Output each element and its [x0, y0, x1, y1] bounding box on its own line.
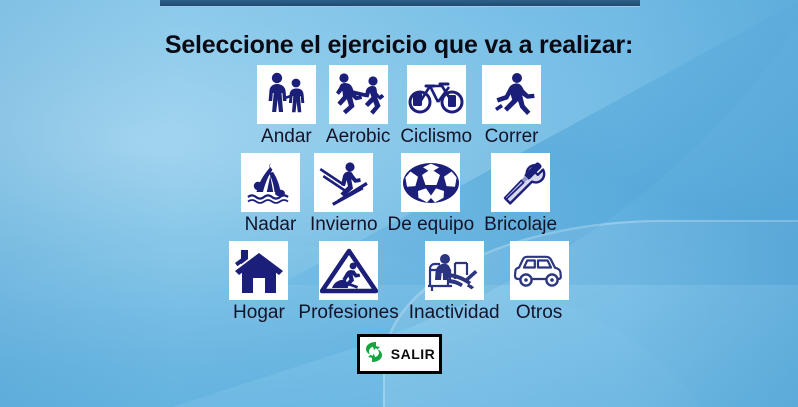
page-title: Seleccione el ejercicio que va a realiza… [165, 31, 633, 60]
exercise-label: Bricolaje [484, 213, 557, 236]
exercise-label: Hogar [233, 301, 285, 324]
exercise-label: Andar [261, 125, 312, 148]
roadwork-sign-icon[interactable] [319, 241, 378, 300]
exercise-item-aerobic[interactable]: Aerobic [326, 65, 390, 148]
exercise-label: Invierno [310, 213, 378, 236]
exercise-item-profesiones[interactable]: Profesiones [298, 241, 398, 324]
walking-pair-icon[interactable] [257, 65, 316, 124]
dancing-pair-icon[interactable] [329, 65, 388, 124]
window-titlebar-strip [160, 0, 640, 7]
exercise-row-3: Hogar Profesiones [229, 241, 568, 324]
exercise-label: Correr [485, 125, 539, 148]
running-person-icon[interactable] [482, 65, 541, 124]
person-on-sofa-icon[interactable] [425, 241, 484, 300]
exercise-item-bricolaje[interactable]: Bricolaje [484, 153, 557, 236]
exercise-label: Ciclismo [400, 125, 472, 148]
diver-swimming-icon[interactable] [241, 153, 300, 212]
exercise-item-ciclismo[interactable]: Ciclismo [400, 65, 472, 148]
exercise-item-nadar[interactable]: Nadar [241, 153, 300, 236]
exercise-item-hogar[interactable]: Hogar [229, 241, 288, 324]
screwdriver-wrench-icon[interactable] [491, 153, 550, 212]
exercise-item-inactividad[interactable]: Inactividad [409, 241, 500, 324]
exercise-label: Otros [516, 301, 562, 324]
exercise-label: Inactividad [409, 301, 500, 324]
house-icon[interactable] [229, 241, 288, 300]
car-icon[interactable] [510, 241, 569, 300]
exercise-label: De equipo [388, 213, 475, 236]
green-return-arrow-icon [363, 340, 385, 369]
exercise-label: Aerobic [326, 125, 390, 148]
bicycle-icon[interactable] [407, 65, 466, 124]
exit-button[interactable]: SALIR [357, 334, 442, 374]
exercise-label: Nadar [245, 213, 297, 236]
exercise-grid: Andar Aerobic [229, 65, 568, 324]
exercise-item-invierno[interactable]: Invierno [310, 153, 378, 236]
exit-button-label: SALIR [391, 346, 436, 362]
exercise-selection-screen: Seleccione el ejercicio que va a realiza… [0, 0, 798, 407]
exercise-label: Profesiones [298, 301, 398, 324]
skier-icon[interactable] [314, 153, 373, 212]
exercise-item-otros[interactable]: Otros [510, 241, 569, 324]
exercise-item-de-equipo[interactable]: De equipo [388, 153, 475, 236]
soccer-ball-icon[interactable] [401, 153, 460, 212]
exit-button-container: SALIR [357, 334, 442, 374]
exercise-row-2: Nadar Invierno [241, 153, 557, 236]
exercise-item-andar[interactable]: Andar [257, 65, 316, 148]
exercise-item-correr[interactable]: Correr [482, 65, 541, 148]
exercise-row-1: Andar Aerobic [257, 65, 541, 148]
